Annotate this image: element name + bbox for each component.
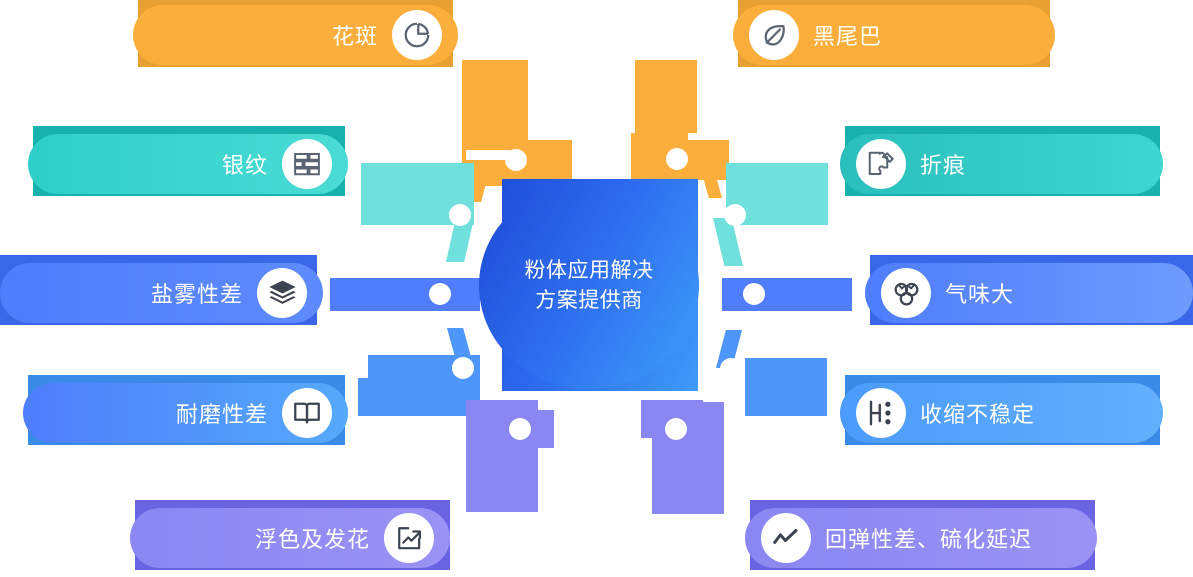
center-node[interactable]: 粉体应用解决 方案提供商: [479, 182, 699, 389]
node-pill[interactable]: 回弹性差、硫化延迟: [745, 508, 1097, 568]
diagram-canvas: 粉体应用解决 方案提供商 花斑 黑尾巴: [0, 0, 1193, 577]
center-label: 粉体应用解决 方案提供商: [525, 256, 654, 316]
connector-dot-naimo: [452, 357, 474, 379]
node-pill[interactable]: 花斑: [133, 5, 458, 65]
node-pill[interactable]: 折痕: [840, 134, 1163, 194]
connector-qiwei: [722, 278, 852, 311]
puzzle-piece-icon: [856, 139, 906, 189]
pie-chart-icon: [392, 10, 442, 60]
node-pill[interactable]: 浮色及发花: [130, 508, 450, 568]
node-label: 花斑: [332, 19, 378, 51]
connector-shousuo: [745, 358, 827, 416]
open-book-icon: [282, 388, 332, 438]
connector-huaban-notch: [466, 150, 510, 160]
node-pill[interactable]: 黑尾巴: [733, 5, 1055, 65]
node-pill[interactable]: 气味大: [865, 263, 1193, 323]
node-pill[interactable]: 耐磨性差: [23, 383, 348, 443]
node-label: 气味大: [945, 277, 1014, 309]
connector-naimo-b: [358, 378, 470, 416]
node-zhehen[interactable]: 折痕: [840, 134, 1163, 194]
connector-dot-qiwei: [743, 283, 765, 305]
connector-yanwu: [330, 278, 480, 311]
node-yinwen[interactable]: 银纹: [28, 134, 348, 194]
connector-dot-yinwen: [449, 204, 471, 226]
node-label: 黑尾巴: [813, 19, 882, 51]
sitemap-icon: [856, 388, 906, 438]
connector-dot-fuse: [509, 418, 531, 440]
leaf-icon: [749, 10, 799, 60]
node-qiwei[interactable]: 气味大: [865, 263, 1193, 323]
node-label: 耐磨性差: [176, 397, 268, 429]
node-yanwu[interactable]: 盐雾性差: [0, 263, 323, 323]
node-heiweiba[interactable]: 黑尾巴: [733, 5, 1055, 65]
node-pill[interactable]: 收缩不稳定: [840, 383, 1163, 443]
node-pill[interactable]: 银纹: [28, 134, 348, 194]
trend-up-icon: [384, 513, 434, 563]
layers-icon: [257, 268, 307, 318]
node-huitan[interactable]: 回弹性差、硫化延迟: [745, 508, 1097, 568]
connector-dot-huitan: [665, 418, 687, 440]
connector-dot-zhehen: [724, 204, 746, 226]
connector-dot-heiweiba: [666, 148, 688, 170]
recycle-icon: [881, 268, 931, 318]
connector-dot-shousuo: [720, 358, 742, 380]
node-label: 折痕: [920, 148, 966, 180]
node-label: 收缩不稳定: [920, 397, 1035, 429]
node-label: 银纹: [222, 148, 268, 180]
node-pill[interactable]: 盐雾性差: [0, 263, 323, 323]
node-label: 浮色及发花: [255, 522, 370, 554]
connector-dot-yanwu: [429, 283, 451, 305]
node-naimo[interactable]: 耐磨性差: [23, 383, 348, 443]
node-huaban[interactable]: 花斑: [133, 5, 458, 65]
brick-wall-icon: [282, 139, 332, 189]
connector-heiweiba-notch: [688, 133, 730, 140]
connector-dot-huaban: [505, 149, 527, 171]
line-chart-icon: [761, 513, 811, 563]
node-label: 盐雾性差: [151, 277, 243, 309]
node-label: 回弹性差、硫化延迟: [825, 522, 1032, 554]
node-fuse[interactable]: 浮色及发花: [130, 508, 450, 568]
node-shousuo[interactable]: 收缩不稳定: [840, 383, 1163, 443]
